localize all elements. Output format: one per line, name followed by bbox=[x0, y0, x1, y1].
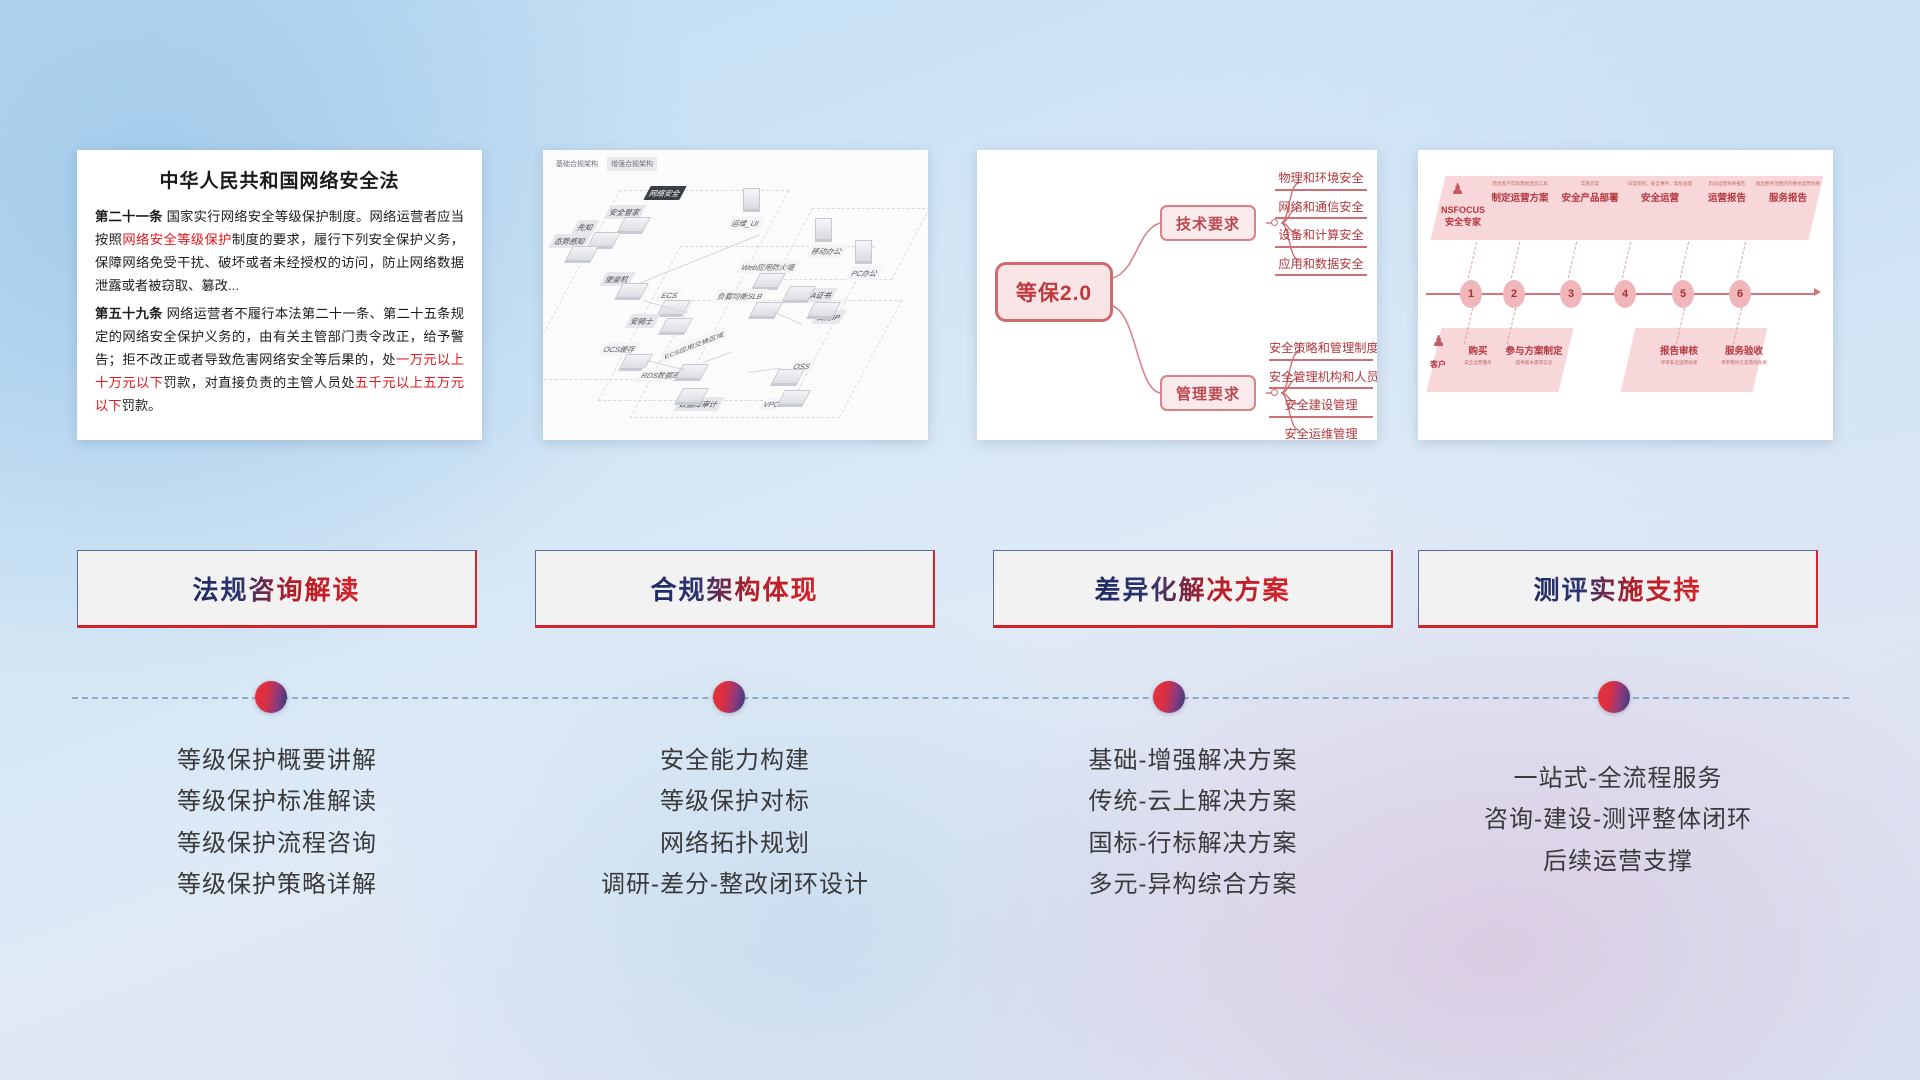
title-box-differentiated-solution[interactable]: 差异化解决方案 bbox=[993, 550, 1393, 628]
article-59-text-b: 罚款，对直接负责的主管人员处 bbox=[163, 375, 355, 390]
mindmap-leaf: 应用和数据安全 bbox=[1275, 254, 1367, 277]
timeline-step-marker-5[interactable]: 5 bbox=[1672, 280, 1694, 308]
step-subtitle: 日常巡检、安全事件、高危处理 bbox=[1622, 181, 1698, 187]
timeline-node-1[interactable] bbox=[255, 681, 287, 713]
detail-item: 咨询-建设-测评整体闭环 bbox=[1418, 799, 1818, 840]
title-box-compliance-architecture[interactable]: 合规架构体现 bbox=[535, 550, 935, 628]
cards-row: 中华人民共和国网络安全法 第二十一条 国家实行网络安全等级保护制度。网络运营者应… bbox=[0, 150, 1920, 440]
architecture-canvas: 基础合规架构 增强合规架构 网络安全 安全管家 先知 态势感知 堡垒机 运维_U… bbox=[543, 150, 928, 440]
detail-item: 多元-异构综合方案 bbox=[993, 864, 1393, 905]
arch-node-label-network-security: 网络安全 bbox=[643, 186, 686, 200]
article-21-label: 第二十一条 bbox=[95, 209, 163, 224]
timeline-connector-1 bbox=[1468, 242, 1477, 278]
step-title: 服务报告 bbox=[1750, 190, 1826, 204]
mindmap-leaf: 安全策略和管理制度 bbox=[1269, 338, 1373, 361]
title-label: 合规架构体现 bbox=[650, 570, 818, 607]
timeline-top-step-2: 实施方案 安全产品部署 bbox=[1554, 181, 1626, 204]
detail-item: 安全能力构建 bbox=[535, 740, 935, 781]
timeline-connector-4 bbox=[1622, 242, 1631, 278]
timeline-bottom-step-2: 参与方案制定 提供基本需求信息 bbox=[1498, 340, 1570, 366]
detail-item: 等级保护策略详解 bbox=[77, 864, 477, 905]
title-label: 法规咨询解读 bbox=[192, 570, 360, 607]
arch-icon-ops-ui bbox=[743, 188, 760, 210]
arch-node-label-waf: Web应用防火墙 bbox=[735, 260, 801, 274]
architecture-tabs: 基础合规架构 增强合规架构 bbox=[552, 157, 657, 171]
detail-item: 后续运营支撑 bbox=[1418, 841, 1818, 882]
arch-node-label-slb: 负载均衡SLB bbox=[711, 289, 769, 303]
mindmap-root-node[interactable]: 等保2.0 bbox=[995, 262, 1113, 322]
mindmap-leaf: 设备和计算安全 bbox=[1275, 225, 1367, 248]
timeline-bottom-step-3: 报告审核 评审安全运营效果 bbox=[1646, 340, 1712, 366]
card-architecture-diagram: 基础合规架构 增强合规架构 网络安全 安全管家 先知 态势感知 堡垒机 运维_U… bbox=[543, 150, 928, 440]
detail-column-4: 一站式-全流程服务 咨询-建设-测评整体闭环 后续运营支撑 bbox=[1418, 758, 1818, 882]
step-title: 服务验收 bbox=[1708, 343, 1780, 357]
step-title: 制定运营方案 bbox=[1484, 190, 1556, 204]
article-59-text-c: 罚款。 bbox=[122, 398, 162, 413]
article-21-highlight: 网络安全等级保护 bbox=[122, 232, 231, 247]
timeline-top-step-1: 结合客户实际需限定出工具 制定运营方案 bbox=[1484, 181, 1556, 204]
mindmap-leaves-management: 安全策略和管理制度 安全管理机构和人员 安全建设管理 安全运维管理 bbox=[1269, 338, 1373, 440]
timeline-step-marker-4[interactable]: 4 bbox=[1614, 280, 1636, 308]
detail-item: 基础-增强解决方案 bbox=[993, 740, 1393, 781]
security-expert-icon: ♟ bbox=[1451, 180, 1464, 198]
nsfocus-brand-sub: 安全专家 bbox=[1432, 215, 1494, 228]
timeline-node-4[interactable] bbox=[1598, 681, 1630, 713]
mindmap-leaf: 安全管理机构和人员 bbox=[1269, 367, 1373, 390]
step-title: 安全产品部署 bbox=[1554, 190, 1626, 204]
timeline-connector-6 bbox=[1737, 242, 1746, 278]
detail-item: 传统-云上解决方案 bbox=[993, 781, 1393, 822]
detail-column-2: 安全能力构建 等级保护对标 网络拓扑规划 调研-差分-整改闭环设计 bbox=[535, 740, 935, 905]
detail-item: 网络拓扑规划 bbox=[535, 823, 935, 864]
step-title: 参与方案制定 bbox=[1498, 343, 1570, 357]
title-box-regulation-consulting[interactable]: 法规咨询解读 bbox=[77, 550, 477, 628]
timeline-arrow-icon bbox=[1814, 288, 1821, 296]
mindmap-canvas: 等保2.0 技术要求 物理和环境安全 网络和通信安全 设备和计算安全 应用和数据… bbox=[977, 150, 1377, 440]
timeline-connector-3 bbox=[1568, 242, 1577, 278]
step-subtitle: 给出服务范围内的整体运营效果 bbox=[1750, 181, 1826, 187]
card-mindmap: 等保2.0 技术要求 物理和环境安全 网络和通信安全 设备和计算安全 应用和数据… bbox=[977, 150, 1377, 440]
timeline-step-marker-1[interactable]: 1 bbox=[1460, 280, 1482, 308]
timeline-dashed-line bbox=[72, 697, 1849, 699]
timeline-connector-5 bbox=[1680, 242, 1689, 278]
mindmap-branch-technical[interactable]: 技术要求 bbox=[1160, 205, 1256, 241]
mindmap-branch-management[interactable]: 管理要求 bbox=[1160, 375, 1256, 411]
title-label: 测评实施支持 bbox=[1533, 570, 1701, 607]
detail-item: 等级保护流程咨询 bbox=[77, 823, 477, 864]
timeline-step-marker-2[interactable]: 2 bbox=[1503, 280, 1525, 308]
step-subtitle: 结合客户实际需限定出工具 bbox=[1484, 181, 1556, 187]
detail-item: 调研-差分-整改闭环设计 bbox=[535, 864, 935, 905]
title-boxes-row: 法规咨询解读 合规架构体现 差异化解决方案 测评实施支持 bbox=[0, 550, 1920, 628]
step-subtitle: 实施方案 bbox=[1554, 181, 1626, 187]
step-subtitle: 评审整体方案落地效果 bbox=[1708, 360, 1780, 366]
law-article-59: 第五十九条 网络运营者不履行本法第二十一条、第二十五条规定的网络安全保护义务的，… bbox=[95, 303, 464, 417]
arch-icon-pc-office bbox=[855, 240, 872, 262]
detail-item: 国标-行标解决方案 bbox=[993, 823, 1393, 864]
step-subtitle: 提供基本需求信息 bbox=[1498, 360, 1570, 366]
card-service-timeline: ♟ NSFOCUS 安全专家 结合客户实际需限定出工具 制定运营方案 实施方案 … bbox=[1418, 150, 1833, 440]
step-title: 报告审核 bbox=[1646, 343, 1712, 357]
arch-icon-mobile-office bbox=[815, 218, 832, 240]
mindmap-leaf: 网络和通信安全 bbox=[1275, 197, 1367, 220]
timeline-node-3[interactable] bbox=[1153, 681, 1185, 713]
timeline-bottom-step-4: 服务验收 评审整体方案落地效果 bbox=[1708, 340, 1780, 366]
timeline-top-step-5: 给出服务范围内的整体运营效果 服务报告 bbox=[1750, 181, 1826, 204]
nsfocus-brand-cell: NSFOCUS 安全专家 bbox=[1432, 202, 1494, 228]
step-title: 安全运营 bbox=[1622, 190, 1698, 204]
timeline-node-2[interactable] bbox=[713, 681, 745, 713]
customer-icon: ♟ bbox=[1432, 332, 1445, 350]
tab-enhanced-compliance[interactable]: 增强合规架构 bbox=[607, 157, 657, 171]
card-law-document: 中华人民共和国网络安全法 第二十一条 国家实行网络安全等级保护制度。网络运营者应… bbox=[77, 150, 482, 440]
timeline-step-marker-6[interactable]: 6 bbox=[1729, 280, 1751, 308]
detail-item: 一站式-全流程服务 bbox=[1418, 758, 1818, 799]
law-title: 中华人民共和国网络安全法 bbox=[95, 166, 464, 193]
nsfocus-timeline-canvas: ♟ NSFOCUS 安全专家 结合客户实际需限定出工具 制定运营方案 实施方案 … bbox=[1418, 150, 1833, 440]
arch-node-label-mobile-office: 移动办公 bbox=[805, 244, 848, 258]
mindmap-leaf: 安全运维管理 bbox=[1269, 424, 1373, 441]
law-body: 中华人民共和国网络安全法 第二十一条 国家实行网络安全等级保护制度。网络运营者应… bbox=[77, 150, 482, 432]
slide-canvas: 中华人民共和国网络安全法 第二十一条 国家实行网络安全等级保护制度。网络运营者应… bbox=[0, 0, 1920, 1080]
law-article-21: 第二十一条 国家实行网络安全等级保护制度。网络运营者应当按照网络安全等级保护制度… bbox=[95, 206, 464, 297]
timeline-top-step-3: 日常巡检、安全事件、高危处理 安全运营 bbox=[1622, 181, 1698, 204]
title-label: 差异化解决方案 bbox=[1094, 570, 1290, 607]
mindmap-leaf: 物理和环境安全 bbox=[1275, 168, 1367, 191]
article-59-label: 第五十九条 bbox=[95, 306, 163, 321]
mindmap-leaves-technical: 物理和环境安全 网络和通信安全 设备和计算安全 应用和数据安全 bbox=[1275, 168, 1367, 282]
detail-item: 等级保护标准解读 bbox=[77, 781, 477, 822]
timeline-connector-2 bbox=[1511, 242, 1520, 278]
timeline-step-marker-3[interactable]: 3 bbox=[1560, 280, 1582, 308]
detail-item: 等级保护概要讲解 bbox=[77, 740, 477, 781]
title-box-evaluation-support[interactable]: 测评实施支持 bbox=[1418, 550, 1818, 628]
detail-item: 等级保护对标 bbox=[535, 781, 935, 822]
detail-column-3: 基础-增强解决方案 传统-云上解决方案 国标-行标解决方案 多元-异构综合方案 bbox=[993, 740, 1393, 905]
nsfocus-brand: NSFOCUS bbox=[1432, 205, 1494, 215]
step-subtitle: 评审安全运营效果 bbox=[1646, 360, 1712, 366]
tab-basic-compliance[interactable]: 基础合规架构 bbox=[552, 157, 602, 171]
detail-column-1: 等级保护概要讲解 等级保护标准解读 等级保护流程咨询 等级保护策略详解 bbox=[77, 740, 477, 905]
mindmap-leaf: 安全建设管理 bbox=[1269, 395, 1373, 418]
